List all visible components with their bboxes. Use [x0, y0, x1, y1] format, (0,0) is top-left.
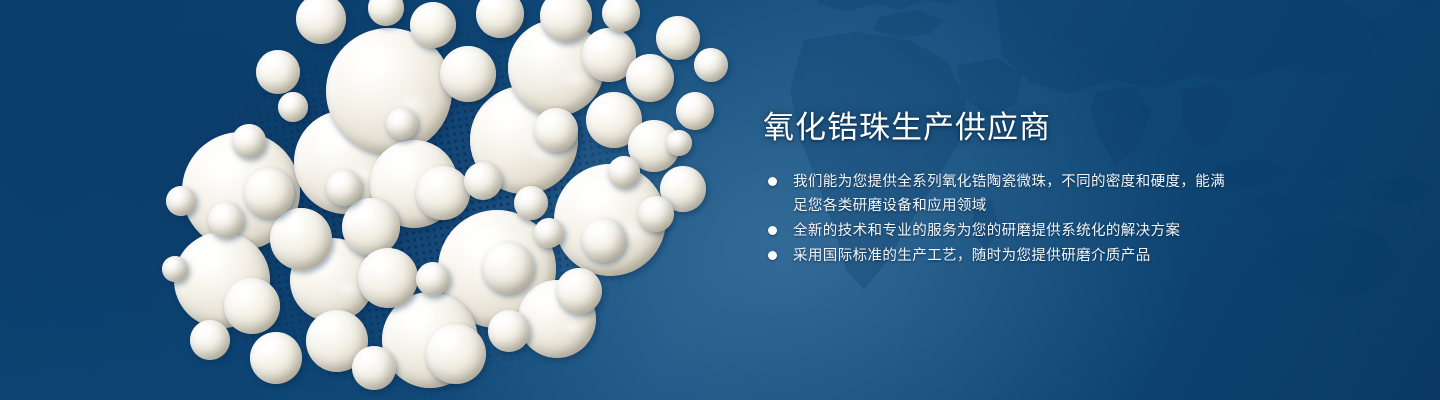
- list-item-label: 采用国际标准的生产工艺，随时为您提供研磨介质产品: [793, 244, 1233, 268]
- bullet-dot-icon: [768, 226, 777, 235]
- page-title: 氧化锆珠生产供应商: [763, 108, 1233, 148]
- bullet-dot-icon: [768, 177, 777, 186]
- list-item: 全新的技术和专业的服务为您的研磨提供系统化的解决方案: [763, 219, 1233, 243]
- feature-list: 我们能为您提供全系列氧化锆陶瓷微珠，不同的密度和硬度，能满足您各类研磨设备和应用…: [763, 170, 1233, 268]
- banner-copy: 氧化锆珠生产供应商 我们能为您提供全系列氧化锆陶瓷微珠，不同的密度和硬度，能满足…: [763, 108, 1233, 269]
- bullet-dot-icon: [768, 251, 777, 260]
- list-item-label: 我们能为您提供全系列氧化锆陶瓷微珠，不同的密度和硬度，能满足您各类研磨设备和应用…: [793, 170, 1233, 218]
- list-item: 采用国际标准的生产工艺，随时为您提供研磨介质产品: [763, 244, 1233, 268]
- list-item: 我们能为您提供全系列氧化锆陶瓷微珠，不同的密度和硬度，能满足您各类研磨设备和应用…: [763, 170, 1233, 218]
- hero-banner: 氧化锆珠生产供应商 我们能为您提供全系列氧化锆陶瓷微珠，不同的密度和硬度，能满足…: [0, 0, 1440, 400]
- list-item-label: 全新的技术和专业的服务为您的研磨提供系统化的解决方案: [793, 219, 1233, 243]
